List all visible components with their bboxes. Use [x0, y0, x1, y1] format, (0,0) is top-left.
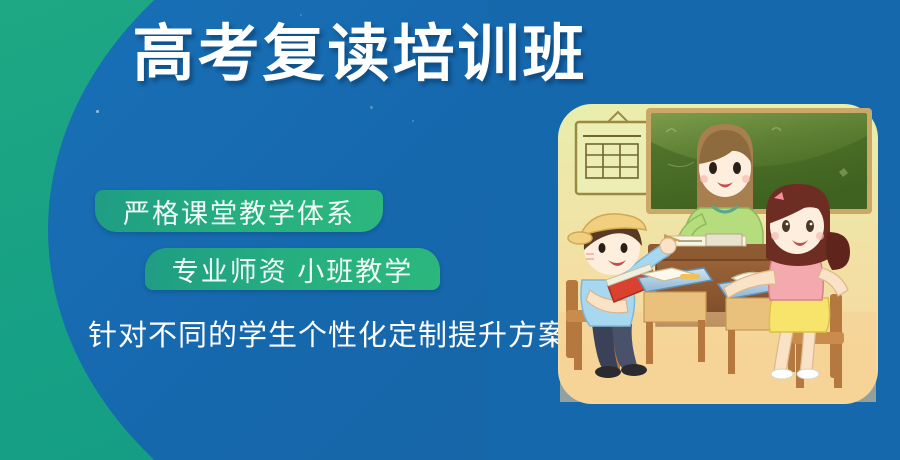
feature-pill-label: 专业师资 小班教学	[172, 250, 414, 289]
feature-pill-label: 严格课堂教学体系	[123, 192, 355, 231]
sparkle-dot	[412, 120, 414, 122]
feature-pill-teaching-system: 严格课堂教学体系	[95, 190, 383, 232]
sparkle-dot	[300, 14, 302, 16]
sparkle-dot	[96, 110, 99, 113]
wall-calendar-icon	[576, 112, 648, 194]
promo-banner: 高考复读培训班 严格课堂教学体系 专业师资 小班教学 针对不同的学生个性化定制提…	[0, 0, 900, 460]
subtitle-text: 针对不同的学生个性化定制提升方案	[88, 312, 508, 354]
sparkle-dot	[370, 106, 373, 109]
blackboard	[646, 108, 872, 214]
page-title: 高考复读培训班	[0, 24, 720, 86]
feature-pill-faculty: 专业师资 小班教学	[145, 248, 440, 290]
classroom-illustration	[556, 102, 880, 410]
